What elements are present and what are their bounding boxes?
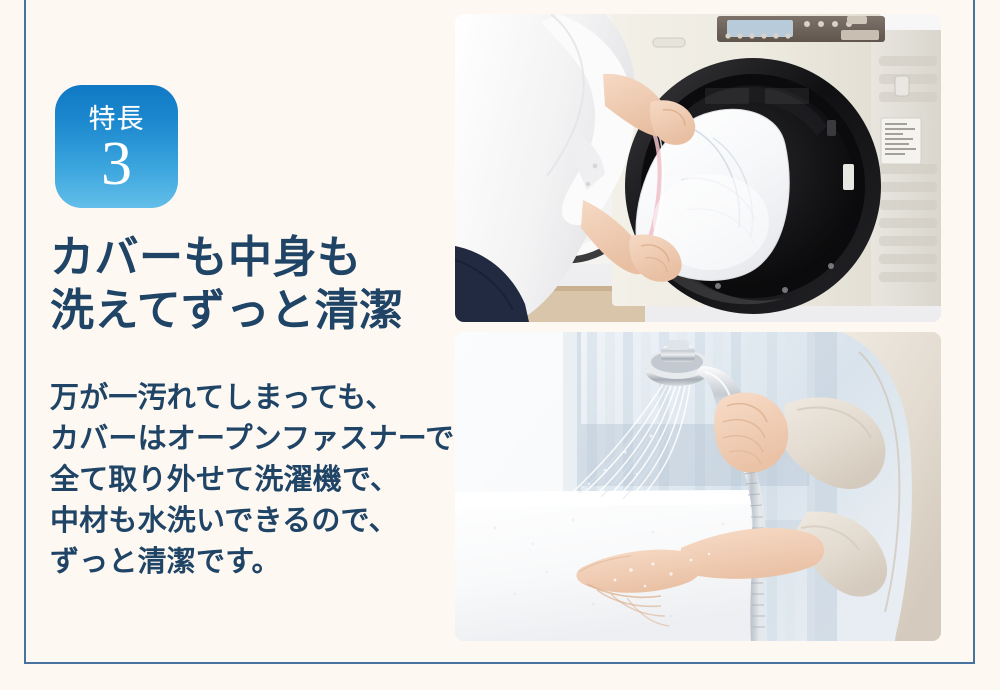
body-line-1: 万が一汚れてしまっても、	[50, 377, 450, 418]
headline-line-1: カバーも中身も	[50, 231, 450, 284]
body-line-5: ずっと清潔です。	[50, 541, 450, 582]
body-line-4: 中材も水洗いできるので、	[50, 500, 450, 541]
washing-machine-photo	[455, 14, 941, 322]
feature-section: 特長 3 カバーも中身も 洗えてずっと清潔 万が一汚れてしまっても、 カバーはオ…	[0, 0, 1000, 690]
body-line-2: カバーはオープンファスナーで	[50, 418, 450, 459]
shower-rinse-illustration	[455, 332, 941, 641]
body-description: 万が一汚れてしまっても、 カバーはオープンファスナーで 全て取り外せて洗濯機で、…	[50, 377, 450, 582]
washing-machine-illustration	[455, 14, 941, 322]
feature-number-badge: 特長 3	[55, 85, 178, 208]
left-text-column: 特長 3 カバーも中身も 洗えてずっと清潔 万が一汚れてしまっても、 カバーはオ…	[0, 0, 455, 690]
page-title: カバーも中身も 洗えてずっと清潔	[50, 231, 450, 337]
shower-rinse-photo	[455, 332, 941, 641]
badge-label: 特長	[89, 106, 145, 133]
badge-number: 3	[101, 135, 132, 194]
body-line-3: 全て取り外せて洗濯機で、	[50, 459, 450, 500]
headline-line-2: 洗えてずっと清潔	[50, 284, 450, 337]
